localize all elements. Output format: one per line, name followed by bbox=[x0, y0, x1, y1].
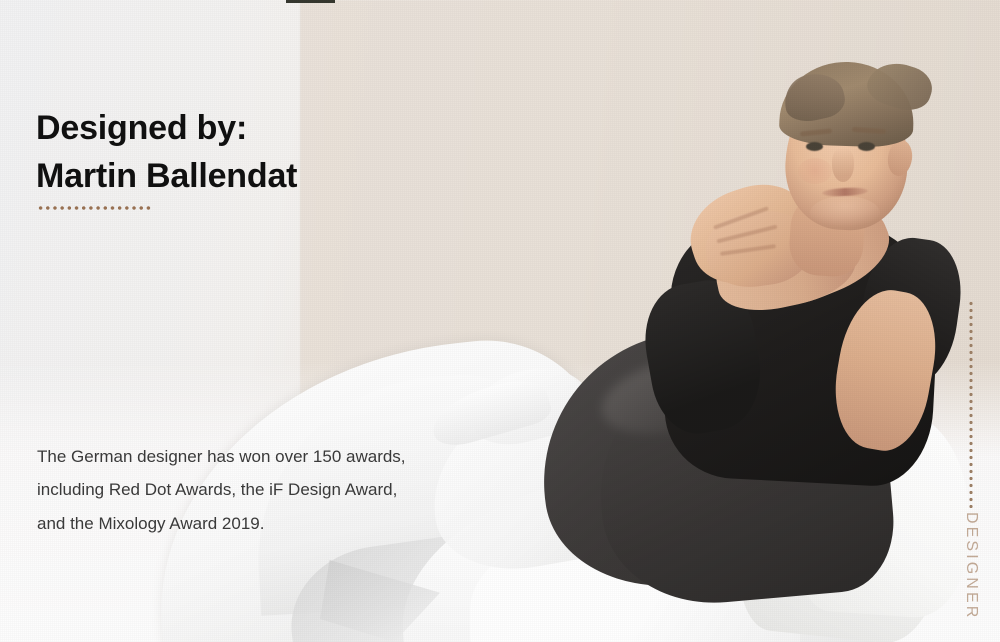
designer-slide: Designed by: Martin Ballendat The German… bbox=[0, 0, 1000, 642]
side-section-label: DESIGNER bbox=[962, 512, 980, 620]
vertical-dotted-rail bbox=[969, 300, 973, 508]
top-edge-marker bbox=[286, 0, 335, 3]
dotted-divider bbox=[37, 206, 153, 210]
designer-description: The German designer has won over 150 awa… bbox=[37, 440, 487, 540]
page-title: Designed by: Martin Ballendat bbox=[36, 104, 297, 201]
text-overlay: Designed by: Martin Ballendat The German… bbox=[0, 0, 1000, 642]
